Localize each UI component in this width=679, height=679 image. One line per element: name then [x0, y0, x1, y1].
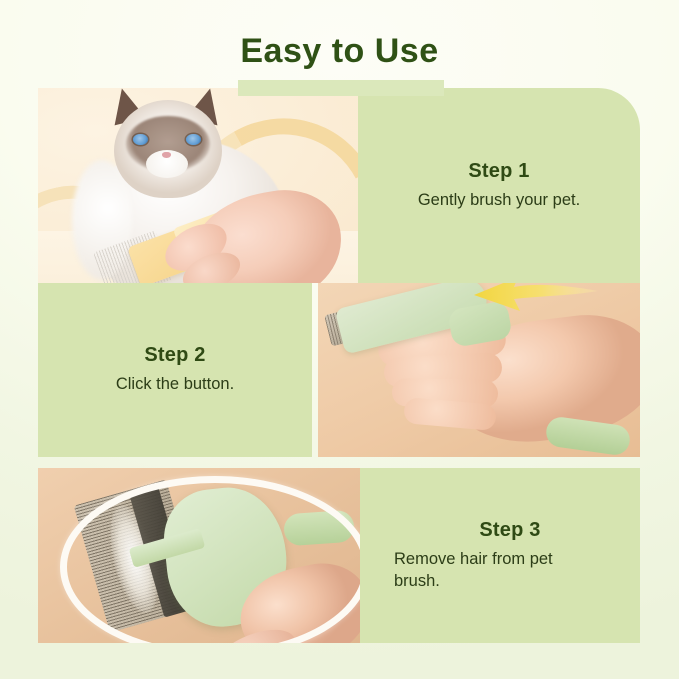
step-1-row: Step 1 Gently brush your pet.	[38, 88, 640, 283]
page-background: Easy to Use	[0, 0, 679, 679]
step-3-text-panel: Step 3 Remove hair from pet brush.	[360, 468, 640, 643]
cat-eye-right	[186, 134, 201, 145]
page-title: Easy to Use	[236, 34, 442, 68]
brush-handle	[544, 415, 631, 456]
step-2-title: Step 2	[144, 344, 205, 367]
step-1-description: Gently brush your pet.	[418, 190, 580, 211]
step-3-row: Step 3 Remove hair from pet brush.	[38, 468, 640, 643]
step-1-text-panel: Step 1 Gently brush your pet.	[358, 88, 640, 283]
step-3-title: Step 3	[479, 519, 540, 542]
step-3-photo	[38, 468, 360, 643]
cat-eye-left	[133, 134, 148, 145]
cat-nose	[162, 152, 171, 158]
step-1-title: Step 1	[468, 160, 529, 183]
step-2-row: Step 2 Click the button.	[38, 283, 640, 457]
steps-grid: Step 1 Gently brush your pet. Step 2 Cli…	[38, 88, 640, 643]
title-highlight-bar	[238, 80, 444, 96]
pointer-arrow-icon	[470, 283, 600, 321]
step-2-photo	[318, 283, 640, 457]
step-2-text-panel: Step 2 Click the button.	[38, 283, 312, 457]
step-1-photo	[38, 88, 358, 283]
page-header: Easy to Use	[0, 26, 679, 76]
step-2-description: Click the button.	[116, 374, 234, 395]
step-3-description: Remove hair from pet brush.	[394, 549, 584, 592]
